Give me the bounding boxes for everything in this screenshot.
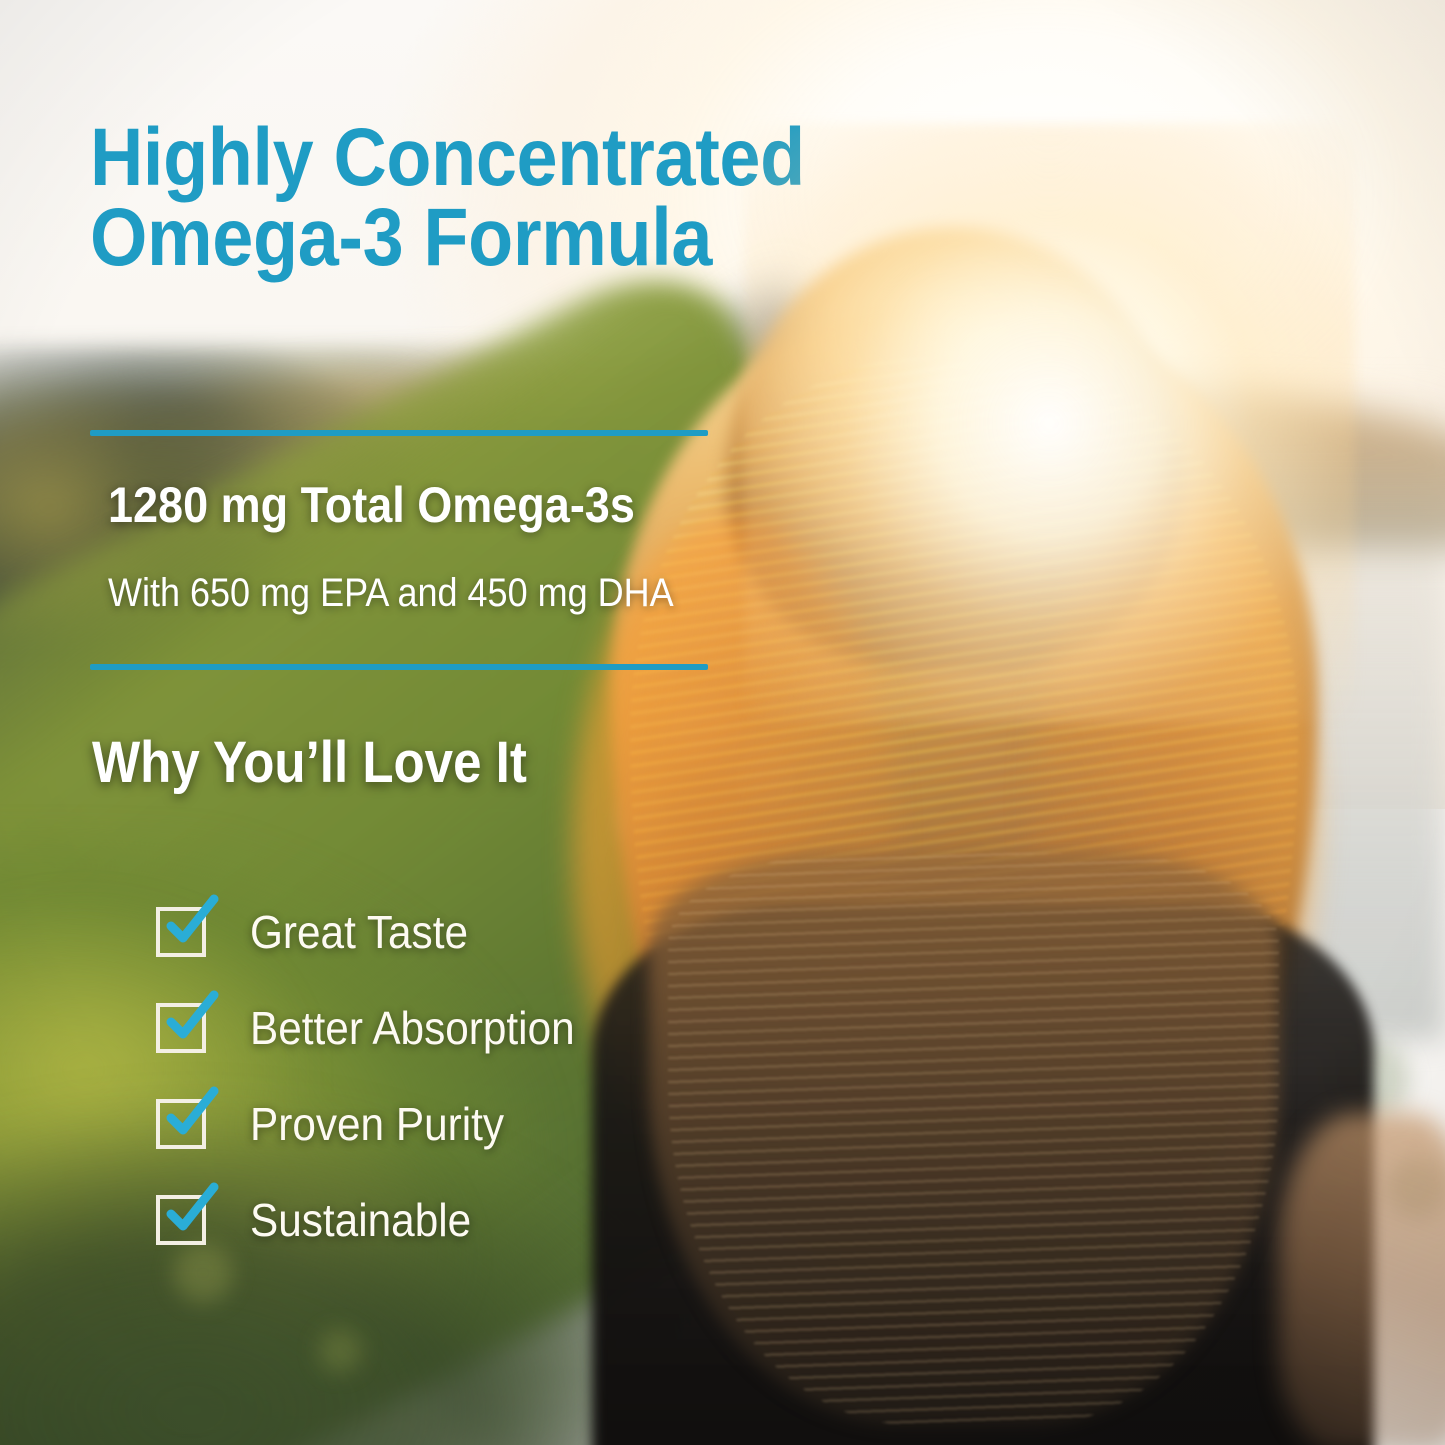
checkbox-checked-icon: [156, 907, 206, 957]
omega3-total-stat: 1280 mg Total Omega-3s: [108, 480, 635, 530]
page-title: Highly Concentrated Omega-3 Formula: [90, 118, 828, 279]
list-item: Better Absorption: [156, 980, 796, 1076]
list-item: Great Taste: [156, 884, 796, 980]
checkbox-checked-icon: [156, 1195, 206, 1245]
product-infographic: Highly Concentrated Omega-3 Formula 1280…: [0, 0, 1445, 1445]
benefits-checklist: Great Taste Better Absorption Proven Pur…: [156, 884, 796, 1268]
divider-rule-bottom: [90, 664, 708, 670]
divider-rule-top: [90, 430, 708, 436]
list-item-label: Great Taste: [250, 909, 468, 955]
checkbox-checked-icon: [156, 1003, 206, 1053]
list-item-label: Proven Purity: [250, 1101, 504, 1147]
epa-dha-breakdown: With 650 mg EPA and 450 mg DHA: [108, 573, 674, 613]
checkbox-checked-icon: [156, 1099, 206, 1149]
benefits-heading: Why You’ll Love It: [92, 734, 527, 792]
list-item-label: Better Absorption: [250, 1005, 575, 1051]
content-layer: Highly Concentrated Omega-3 Formula 1280…: [0, 0, 1445, 1445]
list-item-label: Sustainable: [250, 1197, 471, 1243]
list-item: Sustainable: [156, 1172, 796, 1268]
list-item: Proven Purity: [156, 1076, 796, 1172]
